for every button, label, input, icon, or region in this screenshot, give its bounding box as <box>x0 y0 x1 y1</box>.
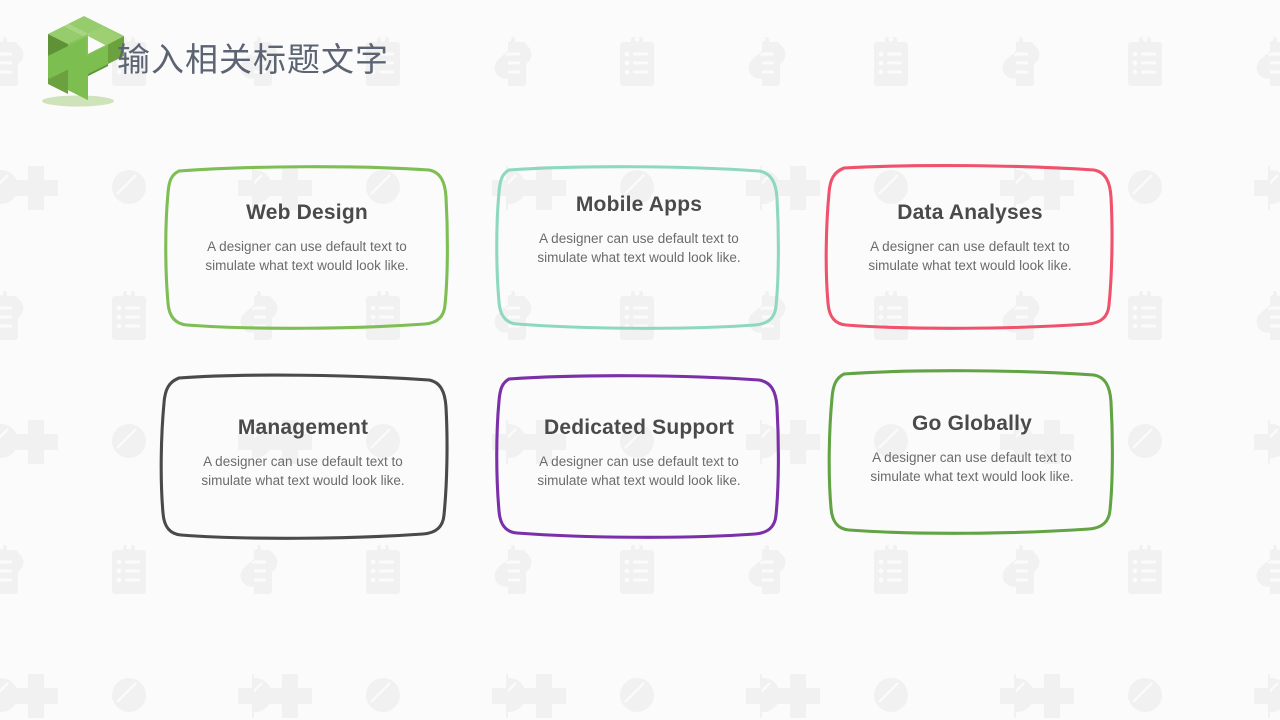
card-description: A designer can use default text to simul… <box>187 452 419 490</box>
card-title: Web Design <box>246 201 368 225</box>
card-title: Management <box>238 416 368 440</box>
card-content: Dedicated Support A designer can use def… <box>489 372 789 544</box>
card-data-analyses[interactable]: Data Analyses A designer can use default… <box>820 163 1120 335</box>
card-title: Go Globally <box>912 412 1032 436</box>
card-content: Go Globally A designer can use default t… <box>822 368 1122 540</box>
card-content: Management A designer can use default te… <box>153 372 453 544</box>
page-title: 输入相关标题文字 <box>117 36 389 84</box>
card-title: Mobile Apps <box>576 193 702 217</box>
card-mobile-apps[interactable]: Mobile Apps A designer can use default t… <box>489 163 789 335</box>
card-go-globally[interactable]: Go Globally A designer can use default t… <box>822 368 1122 540</box>
card-description: A designer can use default text to simul… <box>523 229 755 267</box>
card-management[interactable]: Management A designer can use default te… <box>153 372 453 544</box>
card-web-design[interactable]: Web Design A designer can use default te… <box>157 163 457 335</box>
card-content: Mobile Apps A designer can use default t… <box>489 163 789 335</box>
card-title: Dedicated Support <box>544 416 734 440</box>
card-description: A designer can use default text to simul… <box>856 448 1088 486</box>
card-dedicated-support[interactable]: Dedicated Support A designer can use def… <box>489 372 789 544</box>
header: 输入相关标题文字 <box>0 0 1280 120</box>
card-description: A designer can use default text to simul… <box>523 452 755 490</box>
card-description: A designer can use default text to simul… <box>191 237 423 275</box>
medical-cross-icon <box>22 14 126 110</box>
card-content: Data Analyses A designer can use default… <box>820 163 1120 335</box>
card-content: Web Design A designer can use default te… <box>157 163 457 335</box>
card-title: Data Analyses <box>897 201 1042 225</box>
card-description: A designer can use default text to simul… <box>854 237 1086 275</box>
